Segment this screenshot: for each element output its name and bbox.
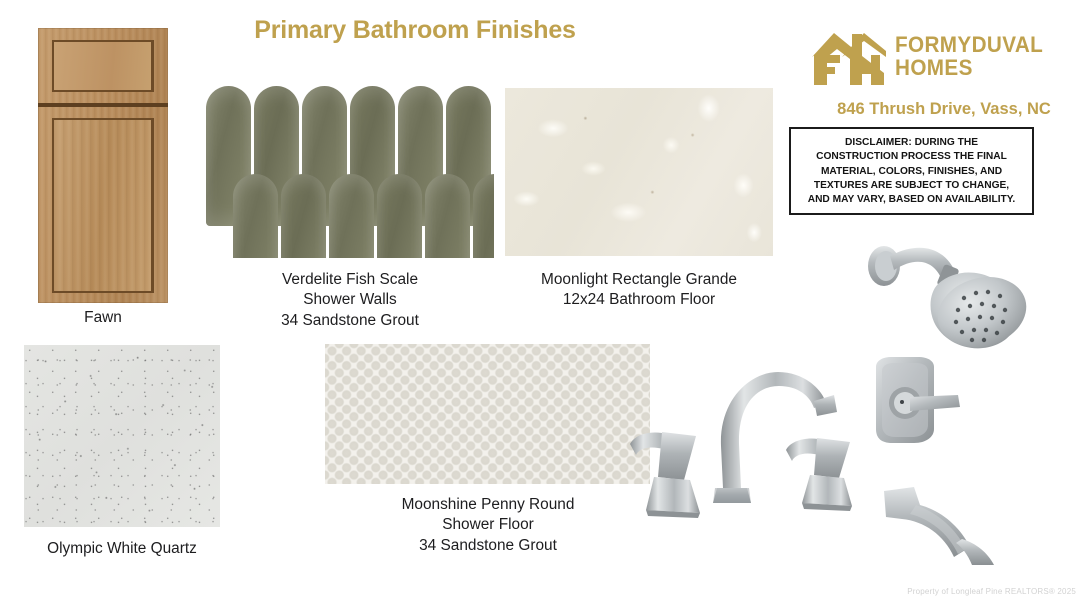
fish-scale-tile (425, 174, 470, 258)
page-title: Primary Bathroom Finishes (205, 16, 625, 45)
quartz-speckle-texture (24, 345, 220, 527)
shower-floor-caption-line-2: Shower Floor (348, 515, 628, 535)
cabinet-door-panel (52, 118, 154, 293)
footer-credit: Property of Longleaf Pine REALTORS® 2025 (907, 587, 1076, 596)
fish-scale-tile (233, 174, 278, 258)
shower-wall-caption-line-1: Verdelite Fish Scale (230, 270, 470, 290)
floor-caption-line-2: 12x24 Bathroom Floor (505, 290, 773, 310)
shower-floor-tile-swatch (325, 344, 650, 484)
bathroom-floor-tile-caption: Moonlight Rectangle Grande 12x24 Bathroo… (505, 270, 773, 311)
shower-wall-caption-line-3: 34 Sandstone Grout (230, 311, 470, 331)
countertop-swatch (24, 345, 220, 527)
disclaimer-line-3: MATERIAL, COLORS, FINISHES, AND (796, 165, 1027, 179)
fish-scale-tile (473, 174, 494, 258)
fh-house-logo-icon (812, 29, 886, 85)
fish-scale-tile (377, 174, 422, 258)
cabinet-drawer-panel (52, 40, 154, 92)
brand-address: 846 Thrush Drive, Vass, NC (812, 100, 1076, 119)
shower-trim-image (862, 355, 972, 455)
countertop-caption: Olympic White Quartz (22, 539, 222, 559)
fish-scale-tile (281, 174, 326, 258)
cabinet-caption: Fawn (8, 308, 198, 328)
shower-wall-caption-line-2: Shower Walls (230, 290, 470, 310)
disclaimer-line-2: CONSTRUCTION PROCESS THE FINAL (796, 150, 1027, 164)
brand-name-line-1: FORMYDUVAL (895, 34, 1043, 57)
shower-floor-caption-line-3: 34 Sandstone Grout (348, 536, 628, 556)
shower-floor-tile-caption: Moonshine Penny Round Shower Floor 34 Sa… (348, 495, 628, 556)
tub-spout-image (880, 485, 1010, 565)
finish-board: Primary Bathroom Finishes FORMYDUVAL HOM… (0, 0, 1082, 600)
disclaimer-line-5: AND MAY VARY, BASED ON AVAILABILITY. (796, 193, 1027, 207)
disclaimer-line-1: DISCLAIMER: DURING THE (796, 136, 1027, 150)
cabinet-caption-line-1: Fawn (8, 308, 198, 328)
cabinet-door-swatch (38, 28, 168, 303)
brand-wordmark: FORMYDUVAL HOMES (895, 34, 1043, 80)
fish-scale-tile (329, 174, 374, 258)
faucet-image (618, 338, 870, 523)
shower-floor-caption-line-1: Moonshine Penny Round (348, 495, 628, 515)
fish-scale-row (233, 174, 494, 258)
cabinet-rail (38, 103, 168, 107)
brand-name-line-2: HOMES (895, 57, 1043, 80)
countertop-caption-line-1: Olympic White Quartz (22, 539, 222, 559)
brand-logo: FORMYDUVAL HOMES (812, 24, 1074, 90)
floor-caption-line-1: Moonlight Rectangle Grande (505, 270, 773, 290)
shower-wall-tile-caption: Verdelite Fish Scale Shower Walls 34 San… (230, 270, 470, 331)
bathroom-floor-tile-swatch (505, 88, 773, 256)
disclaimer-box: DISCLAIMER: DURING THE CONSTRUCTION PROC… (789, 127, 1034, 215)
disclaimer-line-4: TEXTURES ARE SUBJECT TO CHANGE, (796, 179, 1027, 193)
shower-wall-tile-swatch (206, 86, 494, 258)
shower-head-image (862, 222, 1058, 357)
